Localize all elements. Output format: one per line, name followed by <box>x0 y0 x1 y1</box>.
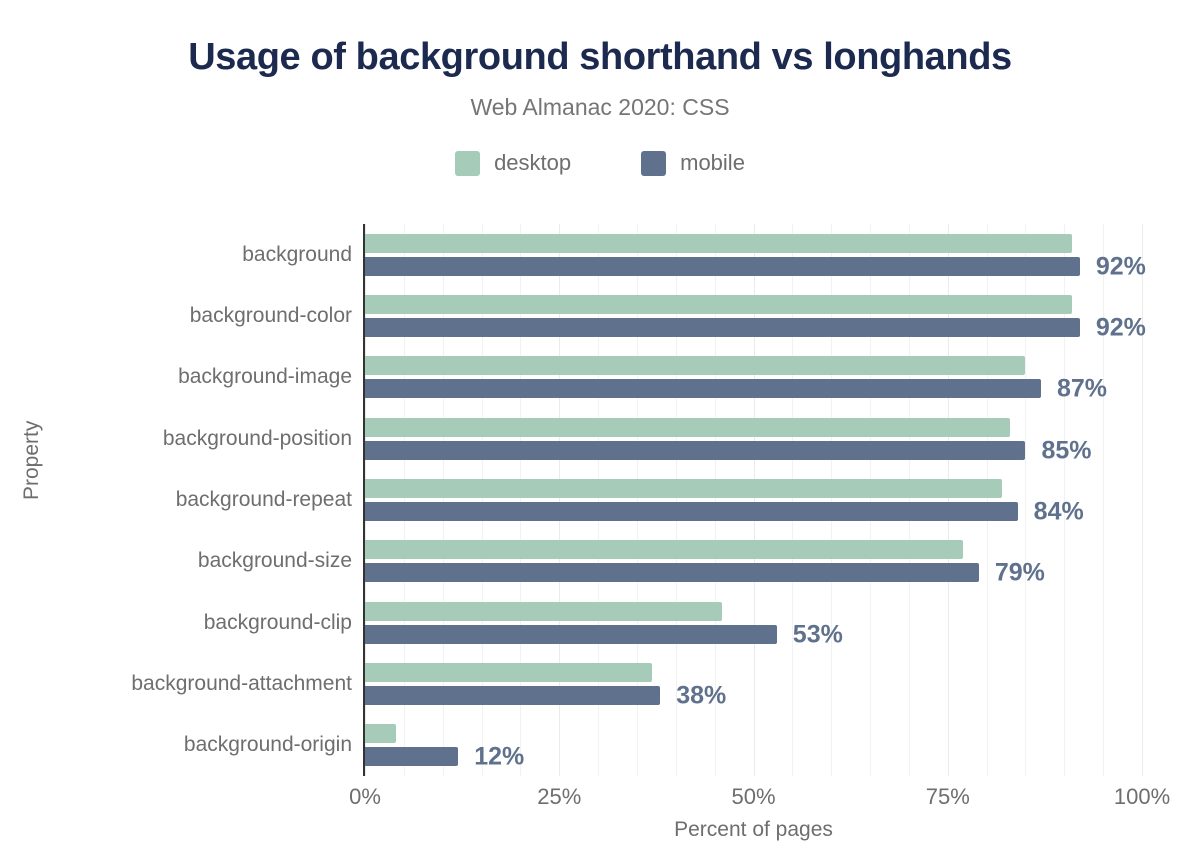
bar-row <box>365 224 1142 285</box>
bar-mobile[interactable] <box>365 441 1025 460</box>
bar-mobile[interactable] <box>365 257 1080 276</box>
bar-value-label: 92% <box>1096 314 1146 343</box>
y-axis-tick-background-clip: background-clip <box>7 611 352 635</box>
bar-mobile[interactable] <box>365 625 777 644</box>
x-axis-tick-75%: 75% <box>926 784 970 810</box>
bar-row <box>365 347 1142 408</box>
bar-desktop[interactable] <box>365 234 1072 253</box>
bar-value-label: 92% <box>1096 252 1146 281</box>
y-axis-tick-background-position: background-position <box>7 427 352 451</box>
y-axis-tick-background-size: background-size <box>7 549 352 573</box>
y-axis-tick-labels: backgroundbackground-colorbackground-ima… <box>0 224 352 776</box>
bar-mobile[interactable] <box>365 686 660 705</box>
chart-title: Usage of background shorthand vs longhan… <box>0 36 1200 79</box>
x-axis-tick-0%: 0% <box>349 784 381 810</box>
bar-mobile[interactable] <box>365 747 458 766</box>
bar-value-label: 85% <box>1041 436 1091 465</box>
bar-mobile[interactable] <box>365 318 1080 337</box>
y-axis-tick-background: background <box>7 243 352 267</box>
x-axis-title: Percent of pages <box>365 818 1142 842</box>
chart-subtitle: Web Almanac 2020: CSS <box>0 94 1200 121</box>
bar-desktop[interactable] <box>365 724 396 743</box>
bar-value-label: 38% <box>676 682 726 711</box>
bar-row <box>365 653 1142 714</box>
gridline-major <box>1142 224 1143 776</box>
bar-row <box>365 408 1142 469</box>
bar-desktop[interactable] <box>365 418 1010 437</box>
y-axis-tick-background-attachment: background-attachment <box>7 672 352 696</box>
y-axis-tick-background-image: background-image <box>7 365 352 389</box>
bar-value-label: 84% <box>1034 498 1084 527</box>
bar-desktop[interactable] <box>365 295 1072 314</box>
bar-value-label: 87% <box>1057 375 1107 404</box>
bar-value-label: 12% <box>474 743 524 772</box>
legend-label-mobile: mobile <box>680 150 745 176</box>
legend-swatch-desktop <box>455 151 480 176</box>
bar-desktop[interactable] <box>365 356 1025 375</box>
plot-area: 92%92%87%85%84%79%53%38%12% <box>365 224 1142 776</box>
legend-swatch-mobile <box>641 151 666 176</box>
bar-desktop[interactable] <box>365 540 963 559</box>
legend-item-mobile[interactable]: mobile <box>641 150 745 176</box>
bar-row <box>365 592 1142 653</box>
bar-value-label: 79% <box>995 559 1045 588</box>
bar-row <box>365 469 1142 530</box>
y-axis-tick-background-color: background-color <box>7 304 352 328</box>
x-axis-tick-100%: 100% <box>1114 784 1170 810</box>
y-axis-tick-background-repeat: background-repeat <box>7 488 352 512</box>
chart-container: Usage of background shorthand vs longhan… <box>0 0 1200 858</box>
x-axis-tick-50%: 50% <box>731 784 775 810</box>
bar-value-label: 53% <box>793 620 843 649</box>
chart-legend: desktop mobile <box>0 150 1200 176</box>
bar-desktop[interactable] <box>365 479 1002 498</box>
x-axis-tick-25%: 25% <box>537 784 581 810</box>
bar-mobile[interactable] <box>365 563 979 582</box>
legend-label-desktop: desktop <box>494 150 571 176</box>
bar-rows: 92%92%87%85%84%79%53%38%12% <box>365 224 1142 776</box>
bar-mobile[interactable] <box>365 502 1018 521</box>
y-axis-tick-background-origin: background-origin <box>7 733 352 757</box>
legend-item-desktop[interactable]: desktop <box>455 150 571 176</box>
bar-desktop[interactable] <box>365 602 722 621</box>
bar-desktop[interactable] <box>365 663 652 682</box>
bar-row <box>365 285 1142 346</box>
bar-mobile[interactable] <box>365 379 1041 398</box>
